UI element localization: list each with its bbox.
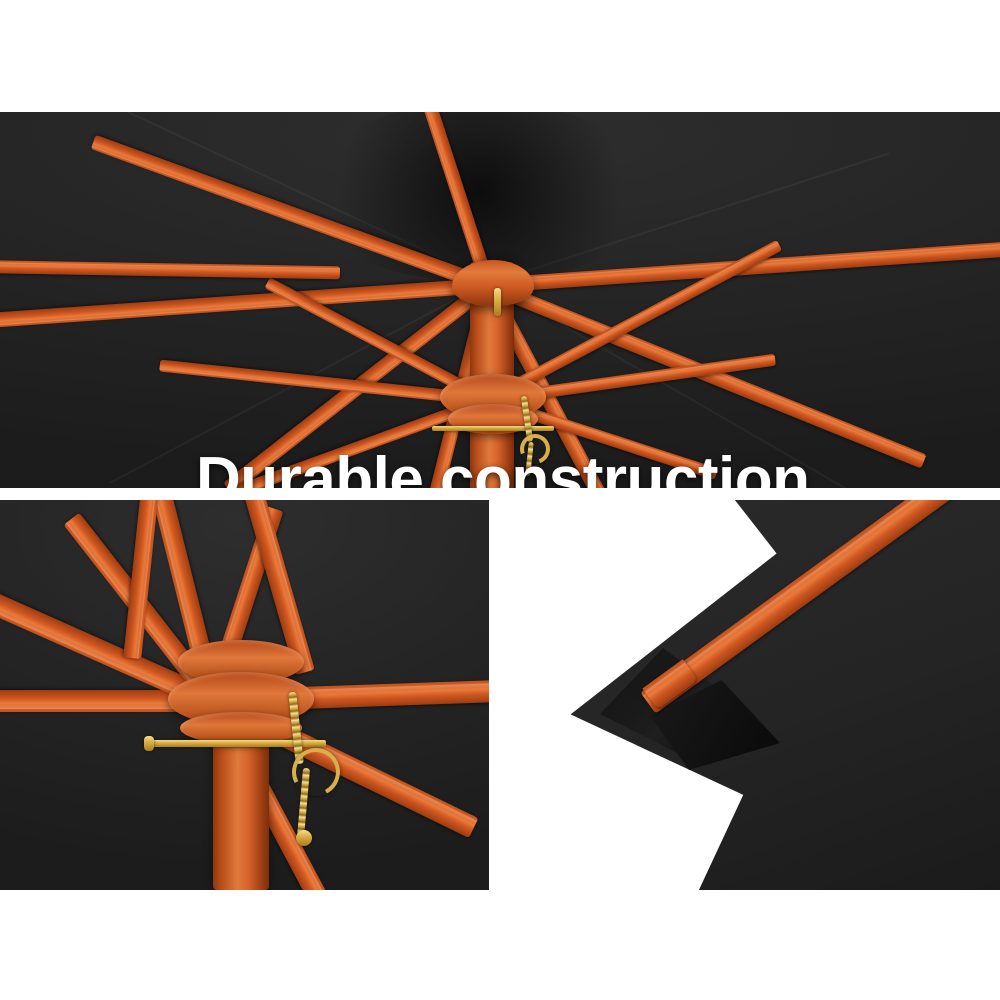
locking-mechanism-photo: Secure locking [0, 500, 489, 890]
umbrella-hub-underside-photo: Durable construction 8-rib support for A… [0, 112, 1000, 488]
locking-pin [432, 426, 554, 431]
chain-end-bead [296, 830, 312, 846]
locking-pin-head [144, 736, 154, 751]
umbrella-crown-hub [452, 260, 534, 306]
page-title: Durable construction [196, 448, 836, 488]
pole-brass-detail [494, 288, 501, 316]
canopy-corner-photo: Solid wood frame [500, 500, 1000, 890]
product-feature-collage: Durable construction 8-rib support for A… [0, 0, 1000, 1000]
